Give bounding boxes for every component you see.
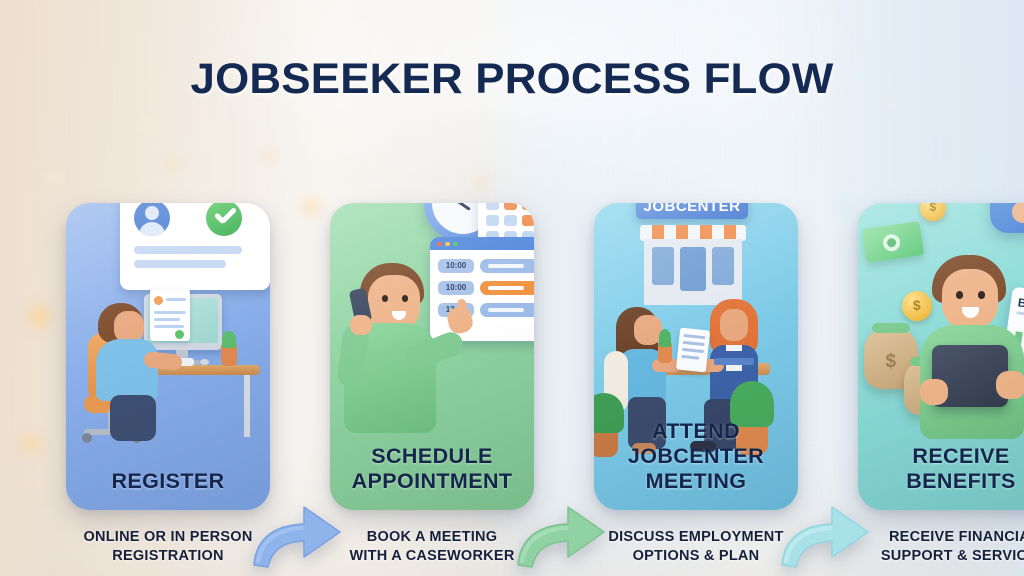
time-slot-1[interactable]: 10:00	[438, 259, 474, 273]
arrow-register-to-schedule	[250, 489, 346, 575]
step-card-jobcenter[interactable]: JOBCENTER	[594, 203, 798, 510]
bokeh-dot	[44, 168, 64, 188]
books	[716, 351, 752, 358]
process-flow-steps: REGISTER ONLINE OR IN PERSON REGISTRATIO…	[0, 203, 1024, 533]
bokeh-dot	[474, 176, 488, 190]
page-title: JOBSEEKER PROCESS FLOW	[0, 58, 1024, 101]
jobcenter-sign: JOBCENTER	[636, 203, 748, 219]
form-line	[134, 260, 226, 268]
step-card-schedule[interactable]: 10:00 10:00 13:30	[330, 203, 534, 510]
money-bag-tie	[872, 323, 910, 333]
booking-window: 10:00 10:00 13:30	[430, 237, 534, 341]
person-hand-left	[920, 379, 948, 405]
bokeh-dot	[930, 140, 944, 154]
slot-row-2-selected[interactable]	[480, 281, 534, 295]
card-background-register: REGISTER	[66, 203, 270, 510]
giving-hand-card	[990, 203, 1024, 233]
card-background-schedule: 10:00 10:00 13:30	[330, 203, 534, 510]
person-eye	[978, 291, 985, 299]
jobseeker-head	[634, 315, 662, 345]
window-dot-red	[437, 242, 442, 247]
window-dot-green	[453, 242, 458, 247]
person-eye	[956, 291, 963, 299]
background-top-glow	[184, 0, 880, 213]
plant-leaves	[659, 329, 671, 347]
step-card-register[interactable]: REGISTER ONLINE OR IN PERSON REGISTRATIO…	[66, 203, 270, 510]
step-card-benefits[interactable]: $ $ $ $ BANK	[858, 203, 1024, 510]
gold-coin: $	[920, 203, 946, 221]
caption-benefits: RECEIVE FINANCIAL SUPPORT & SERVICES	[848, 528, 1024, 565]
bokeh-dot	[140, 118, 156, 134]
person-eye	[382, 295, 388, 302]
card-label-register: REGISTER	[66, 469, 270, 494]
potted-plant	[221, 345, 237, 366]
form-line	[134, 246, 242, 254]
banknote	[862, 221, 924, 263]
person-hand	[350, 315, 372, 335]
documents	[676, 328, 710, 373]
card-label-benefits: RECEIVE BENEFITS	[858, 444, 1024, 494]
jobcenter-sign-text: JOBCENTER	[636, 203, 748, 215]
card-label-jobcenter: ATTEND JOBCENTER MEETING	[594, 419, 798, 494]
avatar-icon	[134, 203, 170, 236]
green-check-icon	[206, 203, 242, 236]
person-torso	[96, 339, 158, 401]
storefront-door	[680, 247, 706, 291]
window-dot-yellow	[445, 242, 450, 247]
card-background-jobcenter: JOBCENTER	[594, 203, 798, 510]
slot-row-1[interactable]	[480, 259, 534, 273]
registration-window	[120, 203, 270, 290]
person-eye	[402, 295, 408, 302]
card-background-benefits: $ $ $ $ BANK	[858, 203, 1024, 510]
bokeh-dot	[262, 150, 274, 162]
card-label-schedule: SCHEDULE APPOINTMENT	[330, 444, 534, 494]
mouse	[200, 359, 209, 365]
document-sheet	[150, 289, 190, 341]
person-legs	[110, 395, 156, 441]
gold-coin: $	[902, 291, 932, 321]
storefront-window	[712, 247, 734, 285]
person-hand-right	[996, 371, 1024, 399]
time-slot-2[interactable]: 10:00	[438, 281, 474, 295]
slot-row-3[interactable]	[480, 303, 534, 317]
illustration-register	[66, 203, 270, 510]
books	[714, 358, 754, 365]
arrow-schedule-to-meeting	[514, 489, 610, 575]
storefront-window	[652, 247, 674, 285]
person-head	[942, 269, 998, 329]
chair-wheel	[82, 433, 92, 443]
arrow-meeting-to-benefits	[778, 489, 874, 575]
caseworker-head	[720, 309, 748, 341]
bokeh-dot	[166, 158, 179, 171]
desk-leg	[244, 375, 250, 437]
plant-leaves	[222, 331, 236, 348]
